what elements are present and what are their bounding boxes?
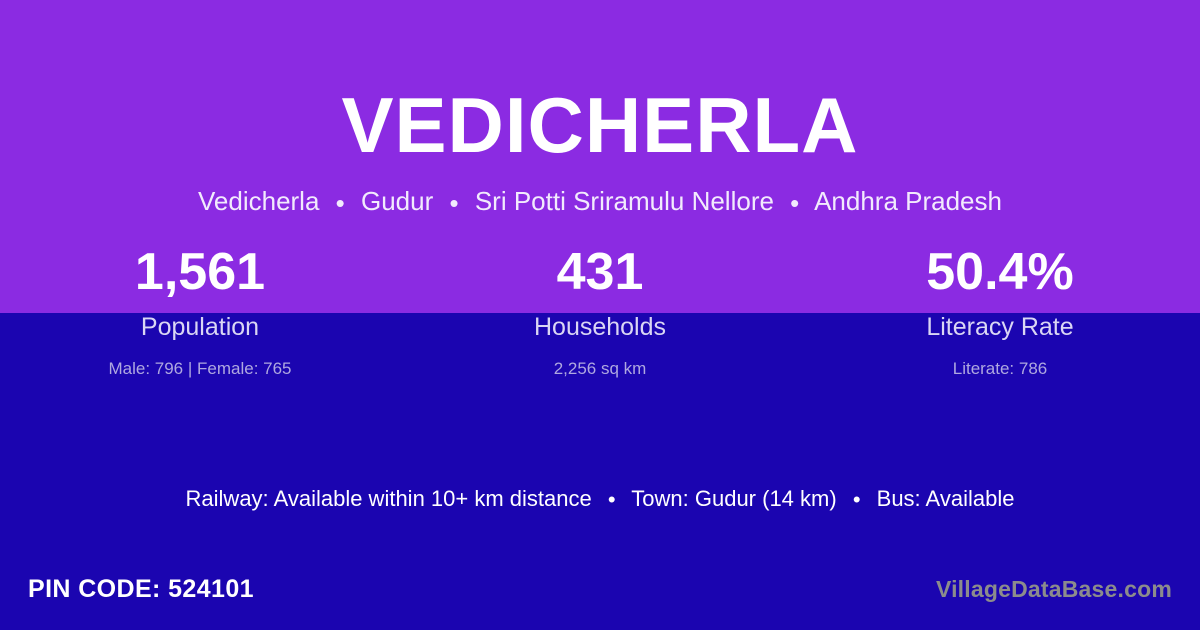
breadcrumb-item-district: Sri Potti Sriramulu Nellore [475,186,774,216]
stat-population: 1,561 Population Male: 796 | Female: 765 [0,246,400,377]
breadcrumb-item-state: Andhra Pradesh [814,186,1002,216]
pin-code: PIN CODE: 524101 [28,575,254,604]
breadcrumb-item-mandal: Gudur [361,186,433,216]
bullet-icon: • [598,487,626,513]
stat-value: 50.4% [800,246,1200,302]
stat-sublabel: Literate: 786 [800,340,1200,377]
site-brand: VillageDataBase.com [936,576,1172,603]
stats-row: 1,561 Population Male: 796 | Female: 765… [0,246,1200,377]
stat-households: 431 Households 2,256 sq km [400,246,800,377]
infra-item-bus: Bus: Available [877,486,1015,511]
village-info-card: VEDICHERLA Vedicherla • Gudur • Sri Pott… [0,0,1200,630]
infrastructure-row: Railway: Available within 10+ km distanc… [0,486,1200,513]
bullet-icon: • [843,487,871,513]
bullet-icon: • [781,188,808,219]
page-title: VEDICHERLA [0,0,1200,164]
stat-literacy-rate: 50.4% Literacy Rate Literate: 786 [800,246,1200,377]
breadcrumb-item-village: Vedicherla [198,186,319,216]
infra-item-town: Town: Gudur (14 km) [631,486,836,511]
stat-label: Population [0,302,400,340]
stat-value: 1,561 [0,246,400,302]
stat-sublabel: Male: 796 | Female: 765 [0,340,400,377]
stat-label: Literacy Rate [800,302,1200,340]
bullet-icon: • [327,188,354,219]
card-footer: PIN CODE: 524101 VillageDataBase.com [0,558,1200,630]
infra-item-railway: Railway: Available within 10+ km distanc… [186,486,592,511]
bullet-icon: • [441,188,468,219]
breadcrumb: Vedicherla • Gudur • Sri Potti Sriramulu… [0,164,1200,219]
stat-label: Households [400,302,800,340]
stat-sublabel: 2,256 sq km [400,340,800,377]
stat-value: 431 [400,246,800,302]
card-header: VEDICHERLA Vedicherla • Gudur • Sri Pott… [0,0,1200,219]
